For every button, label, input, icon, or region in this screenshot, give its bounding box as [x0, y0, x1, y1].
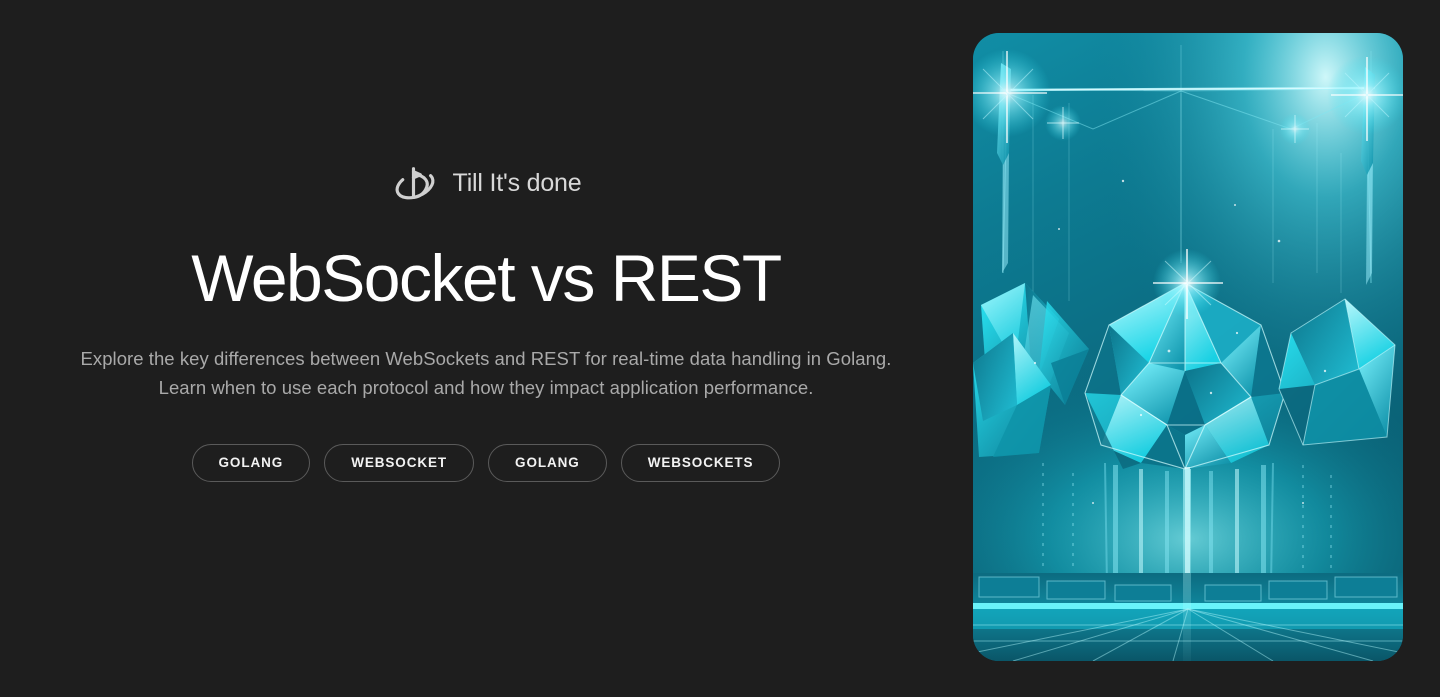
tag-list: GOLANG WEBSOCKET GOLANG WEBSOCKETS: [192, 444, 781, 482]
brand-name: Till It's done: [453, 171, 582, 196]
article-hero-page: Till It's done WebSocket vs REST Explore…: [0, 0, 1440, 697]
hero-image-card: [973, 33, 1403, 661]
article-description: Explore the key differences between WebS…: [61, 344, 911, 402]
tag-pill[interactable]: GOLANG: [192, 444, 311, 482]
page-title: WebSocket vs REST: [191, 244, 780, 314]
brand-lockup[interactable]: Till It's done: [391, 160, 582, 206]
tag-pill[interactable]: GOLANG: [488, 444, 607, 482]
article-content-column: Till It's done WebSocket vs REST Explore…: [0, 0, 972, 697]
tag-pill[interactable]: WEBSOCKET: [324, 444, 474, 482]
crystal-hero-illustration: [973, 33, 1403, 661]
till-its-done-logo-icon: [391, 162, 439, 204]
tag-pill[interactable]: WEBSOCKETS: [621, 444, 781, 482]
